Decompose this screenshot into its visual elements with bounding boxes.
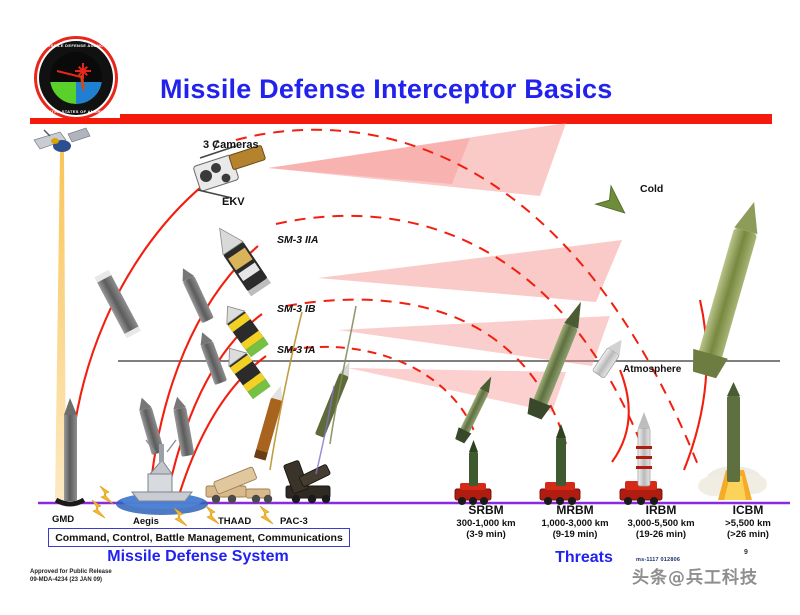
icbm-missile-inflight (687, 197, 771, 380)
engagement-cone-sm3iia (318, 240, 622, 302)
release-line-1: Approved for Public Release (30, 568, 112, 576)
label-three-cameras: 3 Cameras (203, 139, 259, 151)
page-number: 9 (744, 549, 748, 556)
label-sm3-iia: SM-3 IIA (277, 234, 318, 246)
label-pac3: PAC-3 (280, 516, 308, 527)
mrbm-launcher-tel (540, 424, 580, 505)
watermark-text: 头条@兵工科技 (632, 563, 758, 588)
c2bmc-box: Command, Control, Battle Management, Com… (48, 528, 350, 547)
sm3-booster-inflight-2 (196, 330, 227, 385)
early-warning-satellite (34, 128, 90, 152)
thaad-launcher (206, 467, 272, 504)
label-ekv: EKV (222, 196, 245, 208)
threat-time: (>26 min) (688, 529, 800, 540)
sm3-booster-inflight-1 (178, 265, 214, 323)
label-gmd: GMD (52, 514, 74, 525)
threat-arc-srbm (288, 347, 476, 436)
threat-range: >5,500 km (688, 518, 800, 529)
slide-canvas: MISSILE DEFENSE AGENCY UNITED STATES OF … (0, 0, 800, 615)
release-line-2: 09-MDA-4234 (23 JAN 09) (30, 576, 112, 584)
pac3-interceptor-inflight (315, 360, 354, 438)
release-statement: Approved for Public Release 09-MDA-4234 … (30, 568, 112, 584)
sm3-iia-interceptor (210, 222, 271, 297)
label-thaad: THAAD (218, 516, 251, 527)
sm3-ia-interceptor (221, 342, 271, 399)
threat-icbm: ICBM >5,500 km (>26 min) (688, 503, 800, 540)
c2bmc-label: Command, Control, Battle Management, Com… (55, 532, 343, 544)
threat-name: ICBM (688, 503, 800, 517)
missile-defense-system-heading: Missile Defense System (48, 548, 348, 566)
srbm-launcher-tel (455, 440, 491, 505)
label-sm3-ia: SM-3 IA (277, 344, 316, 356)
cold-stage-marker (596, 186, 633, 222)
sm3-booster-inflight-4 (171, 395, 194, 456)
thaad-interceptor-inflight (254, 384, 286, 460)
label-cold: Cold (640, 183, 663, 195)
label-aegis: Aegis (133, 516, 159, 527)
pac3-launcher (283, 460, 330, 503)
icbm-silo-launch (698, 382, 767, 500)
label-atmosphere: Atmosphere (623, 364, 681, 375)
label-sm3-ib: SM-3 IB (277, 303, 316, 315)
irbm-launcher-tel (620, 412, 662, 505)
